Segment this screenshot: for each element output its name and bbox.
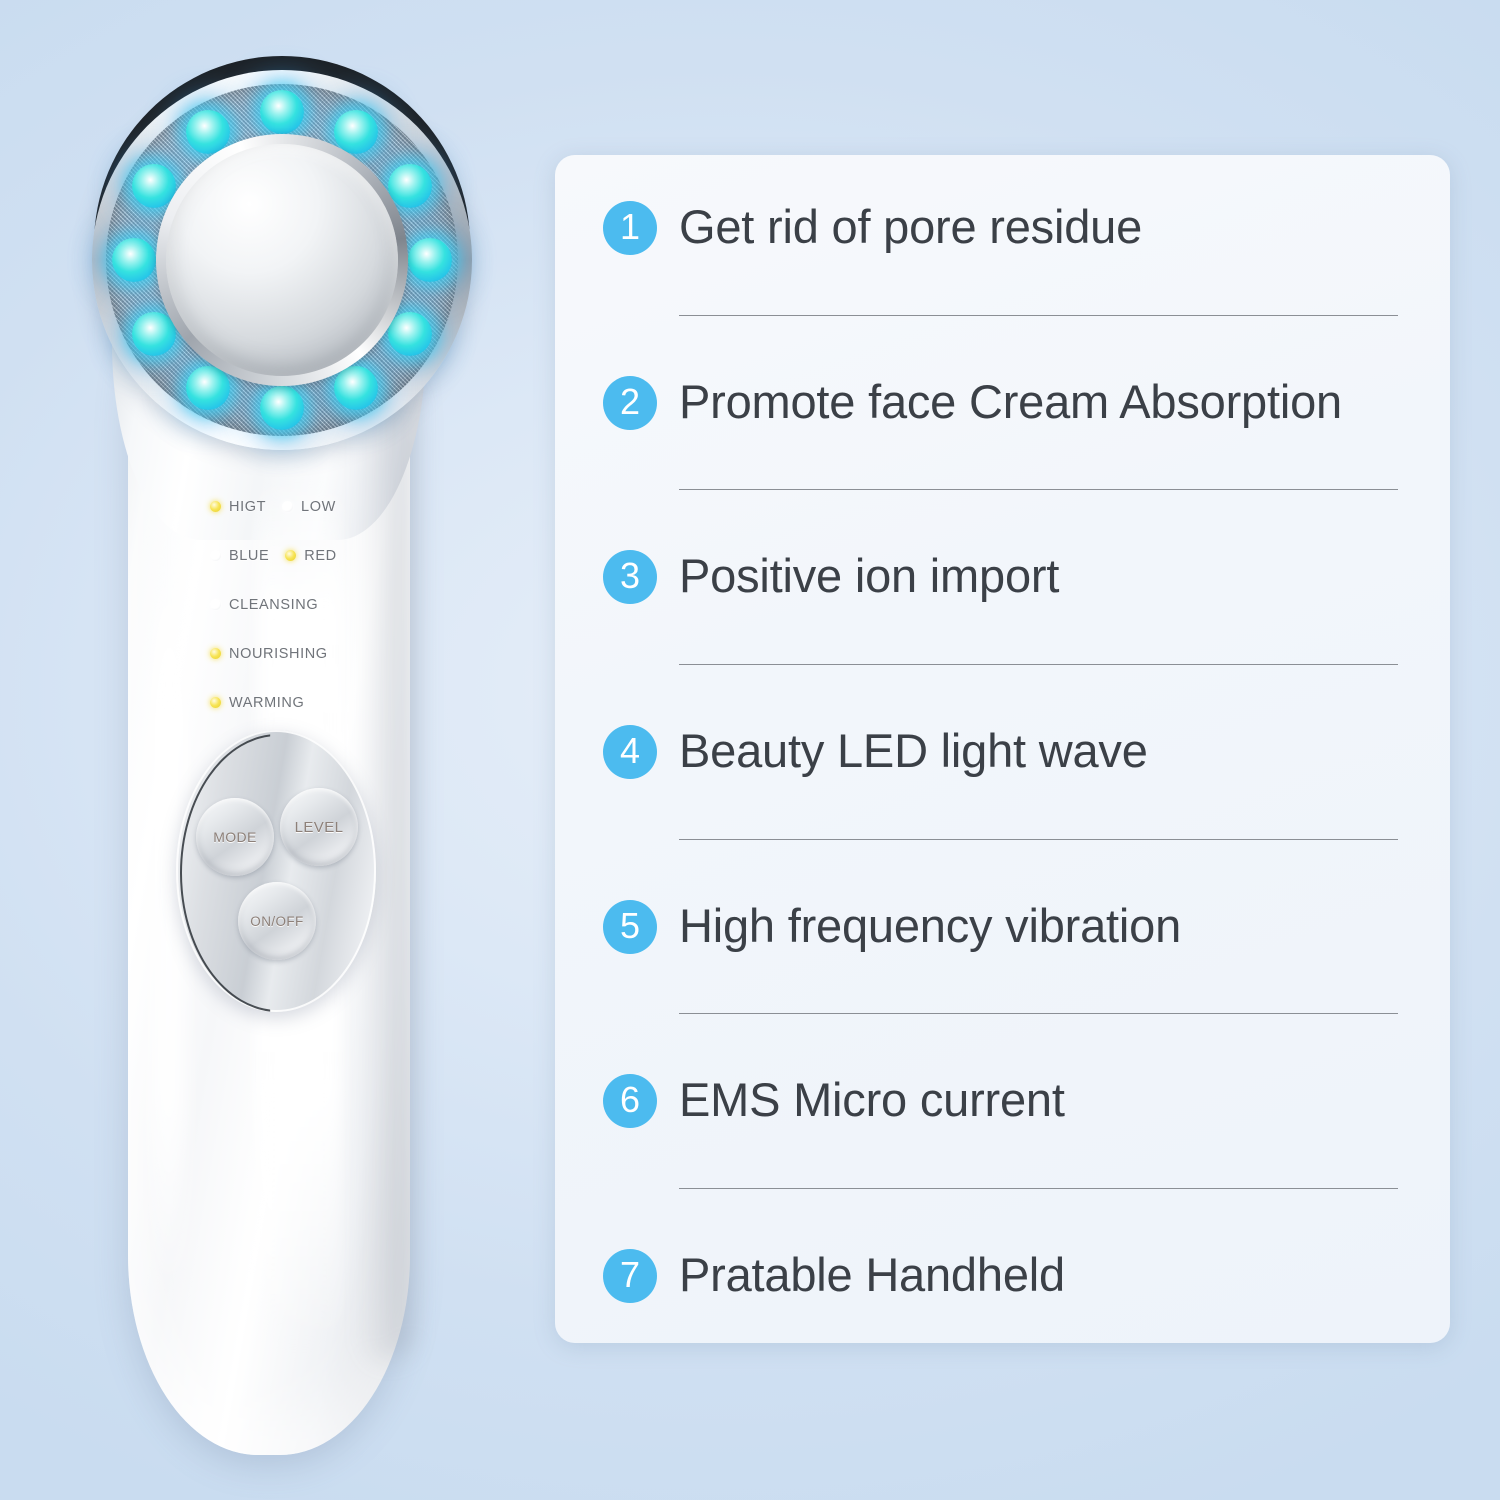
indicator-label: NOURISHING	[229, 646, 328, 662]
indicator-led-icon	[210, 599, 221, 610]
feature-text: Beauty LED light wave	[679, 723, 1406, 778]
feature-spacer	[603, 954, 1406, 1014]
indicator-blue: BLUE	[210, 548, 269, 564]
indicator-row: BLUERED	[210, 531, 440, 580]
led-light	[388, 312, 432, 356]
feature-spacer	[603, 665, 1406, 725]
indicator-led-icon	[210, 648, 221, 659]
feature-text: Positive ion import	[679, 548, 1406, 603]
indicator-red: RED	[285, 548, 336, 564]
indicator-higt: HIGT	[210, 499, 266, 515]
mode-button-label: MODE	[213, 829, 257, 845]
level-button-label: LEVEL	[295, 819, 344, 836]
device-illustration: HIGTLOWBLUEREDCLEANSINGNOURISHINGWARMING…	[60, 50, 520, 1470]
feature-spacer	[603, 779, 1406, 839]
indicator-row: WARMING	[210, 678, 440, 727]
indicator-panel: HIGTLOWBLUEREDCLEANSINGNOURISHINGWARMING	[210, 482, 440, 727]
feature-number-badge: 6	[603, 1074, 657, 1128]
led-light	[112, 238, 156, 282]
head-center-plate	[166, 144, 398, 376]
feature-text: EMS Micro current	[679, 1072, 1406, 1127]
feature-spacer	[603, 840, 1406, 900]
control-plate-edge	[180, 734, 376, 1012]
control-plate: MODE LEVEL ON/OFF	[176, 730, 376, 1012]
indicator-row: NOURISHING	[210, 629, 440, 678]
indicator-label: RED	[304, 548, 336, 564]
led-light	[334, 110, 378, 154]
level-button[interactable]: LEVEL	[280, 788, 358, 866]
indicator-led-icon	[210, 501, 221, 512]
indicator-nourishing: NOURISHING	[210, 646, 328, 662]
onoff-button-label: ON/OFF	[250, 914, 303, 929]
indicator-label: LOW	[301, 499, 336, 515]
feature-number-badge: 7	[603, 1249, 657, 1303]
led-light	[388, 164, 432, 208]
mode-button[interactable]: MODE	[196, 798, 274, 876]
indicator-led-icon	[210, 697, 221, 708]
indicator-label: CLEANSING	[229, 597, 318, 613]
feature-number-badge: 3	[603, 550, 657, 604]
indicator-low: LOW	[282, 499, 336, 515]
feature-text: Get rid of pore residue	[679, 199, 1406, 254]
feature-panel: 1Get rid of pore residue2Promote face Cr…	[555, 155, 1450, 1343]
feature-spacer	[603, 1014, 1406, 1074]
indicator-warming: WARMING	[210, 695, 304, 711]
feature-list: 1Get rid of pore residue2Promote face Cr…	[555, 155, 1450, 1343]
feature-text: Pratable Handheld	[679, 1247, 1406, 1302]
feature-number-badge: 5	[603, 900, 657, 954]
product-feature-infographic: HIGTLOWBLUEREDCLEANSINGNOURISHINGWARMING…	[0, 0, 1500, 1500]
feature-item: 5High frequency vibration	[603, 900, 1406, 954]
feature-item: 7Pratable Handheld	[603, 1249, 1406, 1303]
feature-spacer	[603, 604, 1406, 664]
feature-number-badge: 4	[603, 725, 657, 779]
indicator-cleansing: CLEANSING	[210, 597, 318, 613]
indicator-led-icon	[210, 550, 221, 561]
indicator-row: CLEANSING	[210, 580, 440, 629]
feature-item: 2Promote face Cream Absorption	[603, 376, 1406, 430]
feature-item: 4Beauty LED light wave	[603, 725, 1406, 779]
led-ring-head	[72, 50, 492, 470]
led-light	[260, 90, 304, 134]
feature-spacer	[603, 430, 1406, 490]
feature-spacer	[603, 490, 1406, 550]
led-light	[334, 366, 378, 410]
feature-number-badge: 1	[603, 201, 657, 255]
feature-spacer	[603, 255, 1406, 315]
onoff-button[interactable]: ON/OFF	[238, 882, 316, 960]
led-light	[260, 386, 304, 430]
indicator-label: BLUE	[229, 548, 269, 564]
feature-spacer	[603, 1128, 1406, 1188]
feature-number-badge: 2	[603, 376, 657, 430]
feature-spacer	[603, 316, 1406, 376]
led-light	[186, 366, 230, 410]
feature-spacer	[603, 1189, 1406, 1249]
feature-item: 3Positive ion import	[603, 550, 1406, 604]
indicator-label: WARMING	[229, 695, 304, 711]
feature-item: 6EMS Micro current	[603, 1074, 1406, 1128]
feature-text: High frequency vibration	[679, 898, 1406, 953]
feature-item: 1Get rid of pore residue	[603, 201, 1406, 255]
led-light	[408, 238, 452, 282]
indicator-row: HIGTLOW	[210, 482, 440, 531]
led-light	[132, 312, 176, 356]
indicator-led-icon	[285, 550, 296, 561]
feature-text: Promote face Cream Absorption	[679, 374, 1406, 429]
indicator-label: HIGT	[229, 499, 266, 515]
indicator-led-icon	[282, 501, 293, 512]
